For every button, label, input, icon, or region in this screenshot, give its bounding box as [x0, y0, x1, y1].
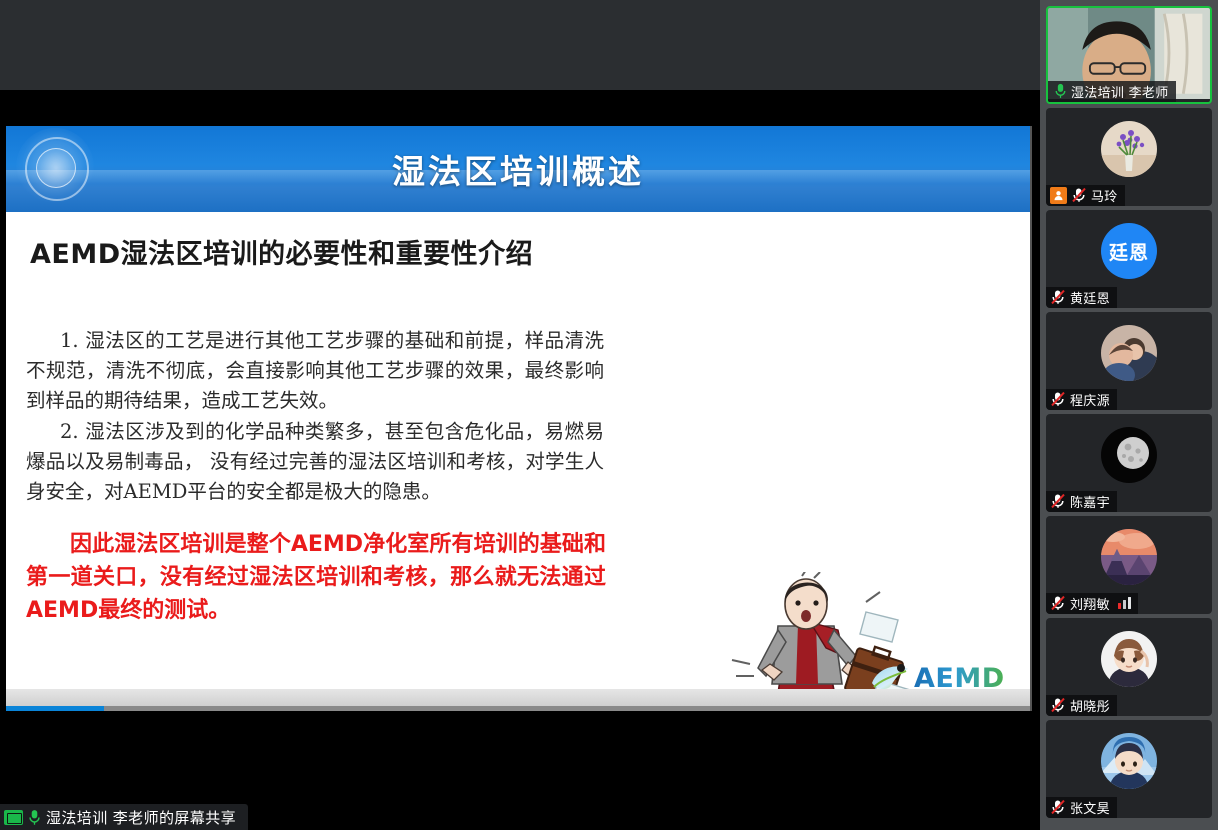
participant-name: 刘翔敏: [1070, 594, 1110, 613]
participant-name-strip: 张文昊: [1046, 797, 1117, 818]
participant-name: 陈嘉宇: [1070, 492, 1110, 511]
mic-on-icon: [28, 809, 41, 826]
slide-banner-title: 湿法区培训概述: [6, 126, 1030, 212]
stage-top-background: [0, 0, 1040, 90]
participant-sidebar[interactable]: 湿法培训 李老师: [1040, 0, 1218, 830]
participant-tile-chengqingyuan[interactable]: 程庆源: [1046, 312, 1212, 410]
participant-name-strip: 程庆源: [1046, 389, 1117, 410]
network-strength-icon: [1118, 597, 1131, 609]
participant-name-strip: 马玲: [1046, 185, 1125, 206]
presentation-slide: 湿法区培训概述 AEMD湿法区培训的必要性和重要性介绍 1. 湿法区的工艺是进行…: [6, 126, 1032, 711]
participant-name: 程庆源: [1070, 390, 1110, 409]
slide-progress-fill: [6, 706, 104, 711]
share-status-label: 湿法培训 李老师的屏幕共享: [46, 807, 236, 828]
avatar: [1101, 631, 1157, 687]
screen-share-status-bar: 湿法培训 李老师的屏幕共享: [0, 804, 248, 830]
participant-name-strip: 胡晓彤: [1046, 695, 1117, 716]
avatar: [1101, 529, 1157, 585]
participant-name: 黄廷恩: [1070, 288, 1110, 307]
mic-muted-icon: [1050, 391, 1066, 407]
slide-conclusion-text: 因此湿法区培训是整个AEMD净化室所有培训的基础和第一道关口，没有经过湿法区培训…: [26, 528, 606, 627]
slide-paragraph-1: 1. 湿法区的工艺是进行其他工艺步骤的基础和前提，样品清洗不规范，清洗不彻底，会…: [26, 326, 604, 416]
slide-progress-track[interactable]: [6, 706, 1030, 711]
participant-tile-zhangwenhao[interactable]: 张文昊: [1046, 720, 1212, 818]
screen-share-icon: [4, 810, 23, 825]
participant-name-strip: 陈嘉宇: [1046, 491, 1117, 512]
avatar: [1101, 325, 1157, 381]
mic-muted-icon: [1050, 595, 1066, 611]
participant-tile-active-speaker[interactable]: 湿法培训 李老师: [1046, 6, 1212, 104]
participant-tile-maling[interactable]: 马玲: [1046, 108, 1212, 206]
participant-name-strip: 刘翔敏: [1046, 593, 1138, 614]
host-badge-icon: [1050, 187, 1067, 204]
participant-tile-liuxiangmin[interactable]: 刘翔敏: [1046, 516, 1212, 614]
shared-screen-stage: 湿法区培训概述 AEMD湿法区培训的必要性和重要性介绍 1. 湿法区的工艺是进行…: [0, 0, 1040, 830]
mic-muted-icon: [1050, 799, 1066, 815]
avatar: [1101, 733, 1157, 789]
participant-tile-chenjiayu[interactable]: 陈嘉宇: [1046, 414, 1212, 512]
slide-body: AEMD湿法区培训的必要性和重要性介绍 1. 湿法区的工艺是进行其他工艺步骤的基…: [6, 212, 1030, 711]
avatar: 廷恩: [1101, 223, 1157, 279]
participant-tile-huangtingen[interactable]: 廷恩 黄廷恩: [1046, 210, 1212, 308]
participant-name-strip: 湿法培训 李老师: [1048, 81, 1176, 102]
slide-heading: AEMD湿法区培训的必要性和重要性介绍: [30, 232, 533, 271]
avatar: [1101, 121, 1157, 177]
slide-title-banner: 湿法区培训概述: [6, 126, 1030, 212]
mic-muted-icon: [1071, 187, 1087, 203]
participant-name-strip: 黄廷恩: [1046, 287, 1117, 308]
participant-name: 张文昊: [1070, 798, 1110, 817]
participant-name: 马玲: [1091, 186, 1118, 205]
avatar-initials: 廷恩: [1101, 223, 1157, 279]
participant-tile-huxiaotong[interactable]: 胡晓彤: [1046, 618, 1212, 716]
mic-muted-icon: [1050, 493, 1066, 509]
mic-muted-icon: [1050, 697, 1066, 713]
participant-name: 湿法培训 李老师: [1071, 82, 1169, 101]
avatar: [1101, 427, 1157, 483]
zoom-meeting-window: 湿法区培训概述 AEMD湿法区培训的必要性和重要性介绍 1. 湿法区的工艺是进行…: [0, 0, 1218, 830]
slide-paragraph-2: 2. 湿法区涉及到的化学品种类繁多，甚至包含危化品，易燃易爆品以及易制毒品， 没…: [26, 417, 604, 507]
mic-on-icon: [1054, 83, 1067, 99]
participant-name: 胡晓彤: [1070, 696, 1110, 715]
mic-muted-icon: [1050, 289, 1066, 305]
